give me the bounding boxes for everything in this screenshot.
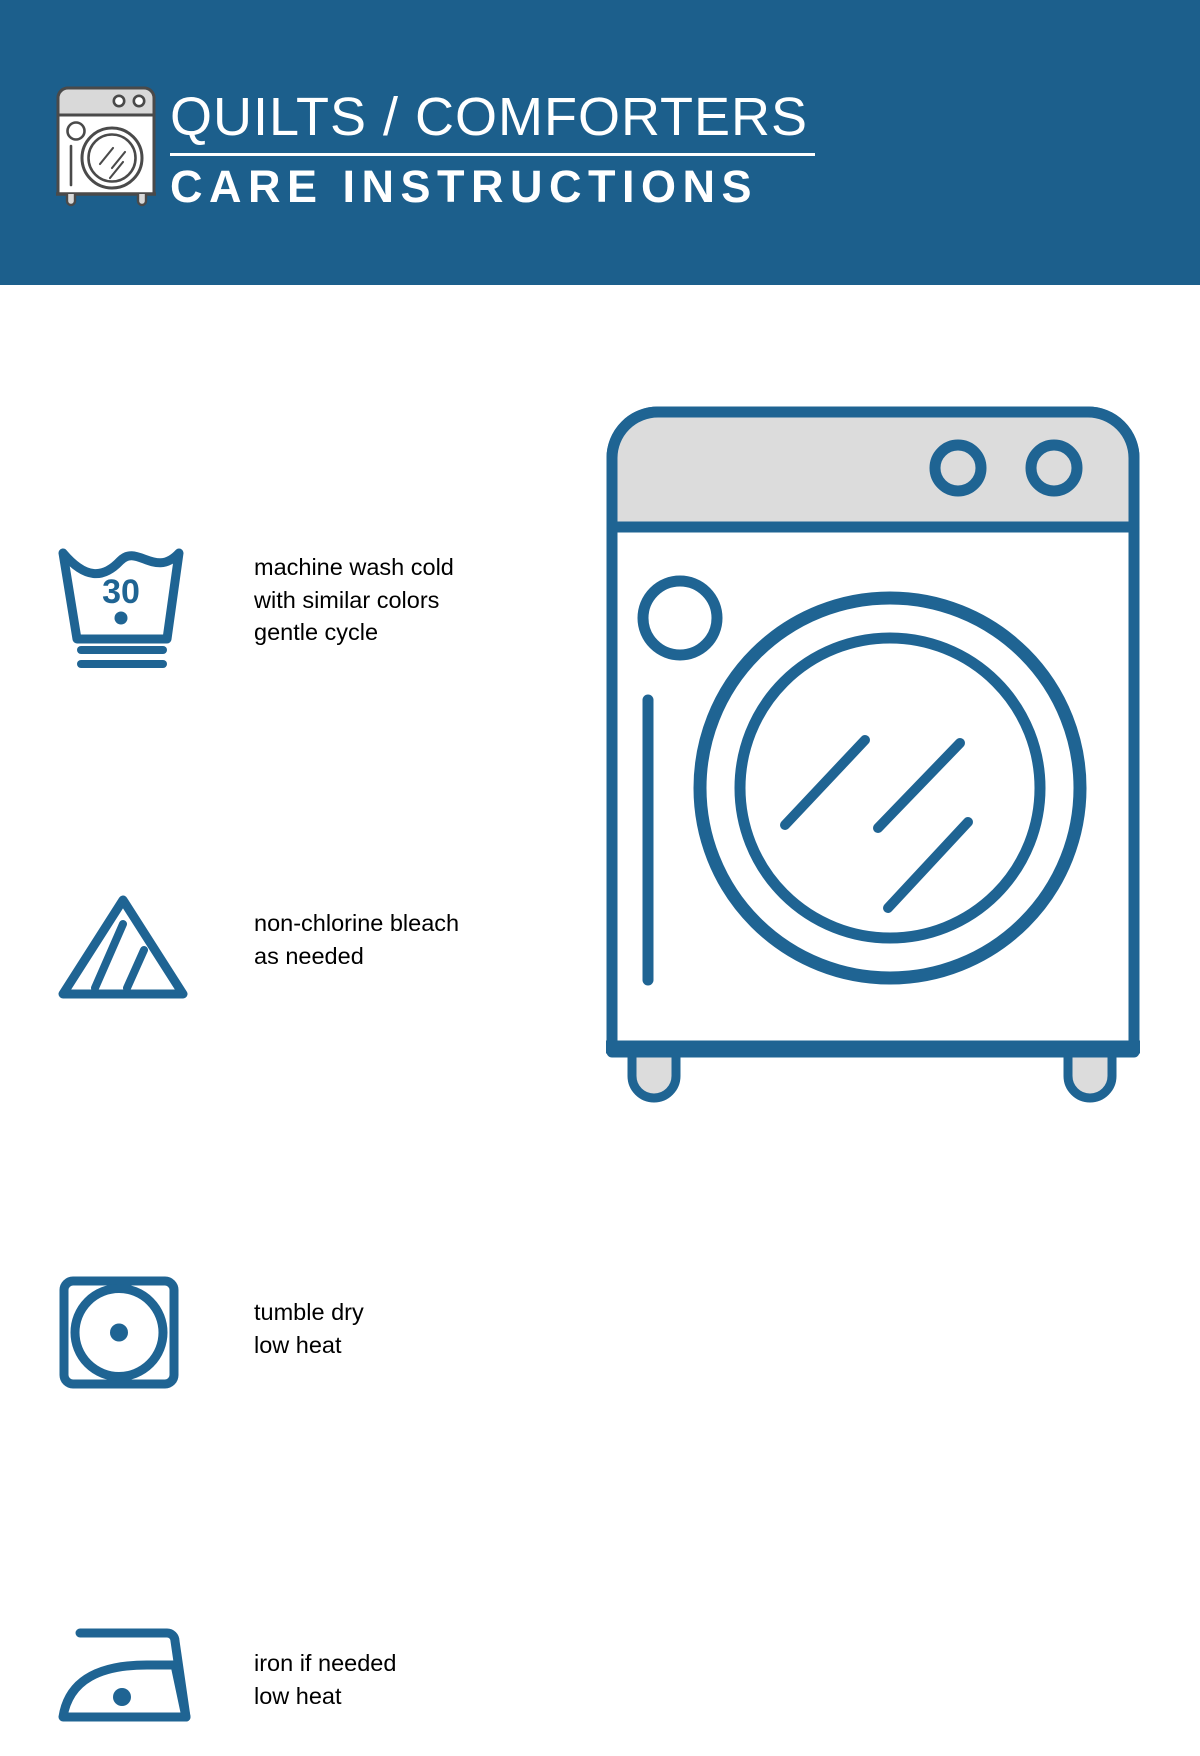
knob-right [1031,445,1077,491]
care-symbol-list: 30 machine wash cold with similar colors… [0,285,560,1200]
header-title-block: QUILTS / COMFORTERS CARE INSTRUCTIONS [170,88,820,212]
care-text-line: low heat [254,1329,544,1362]
large-washing-machine-illustration [600,400,1160,1120]
care-row-tumble-dry: tumble dry low heat [0,777,560,927]
care-text-tumble-dry: tumble dry low heat [254,1296,544,1361]
door-glass [740,638,1040,938]
care-row-bleach: non-chlorine bleach as needed [0,585,560,735]
tumble-dry-low-heat-icon [55,1272,205,1402]
care-row-wash: 30 machine wash cold with similar colors… [0,413,560,563]
knob-left [935,445,981,491]
title-divider [170,153,815,156]
page-header: QUILTS / COMFORTERS CARE INSTRUCTIONS [0,0,1200,285]
page-subtitle: CARE INSTRUCTIONS [170,162,820,212]
washing-machine-icon [50,82,162,208]
care-row-iron: iron if needed low heat [0,953,560,1103]
detergent-dispenser [643,581,717,655]
page-title: QUILTS / COMFORTERS [170,88,820,146]
care-text-line: tumble dry [254,1296,544,1329]
care-instructions-page: QUILTS / COMFORTERS CARE INSTRUCTIONS 30 [0,0,1200,1200]
care-text-iron: iron if needed low heat [254,1647,544,1712]
care-text-line: iron if needed [254,1647,544,1680]
care-text-line: low heat [254,1680,544,1713]
iron-low-heat-icon [55,1621,205,1751]
care-text-line: machine wash cold [254,551,544,584]
